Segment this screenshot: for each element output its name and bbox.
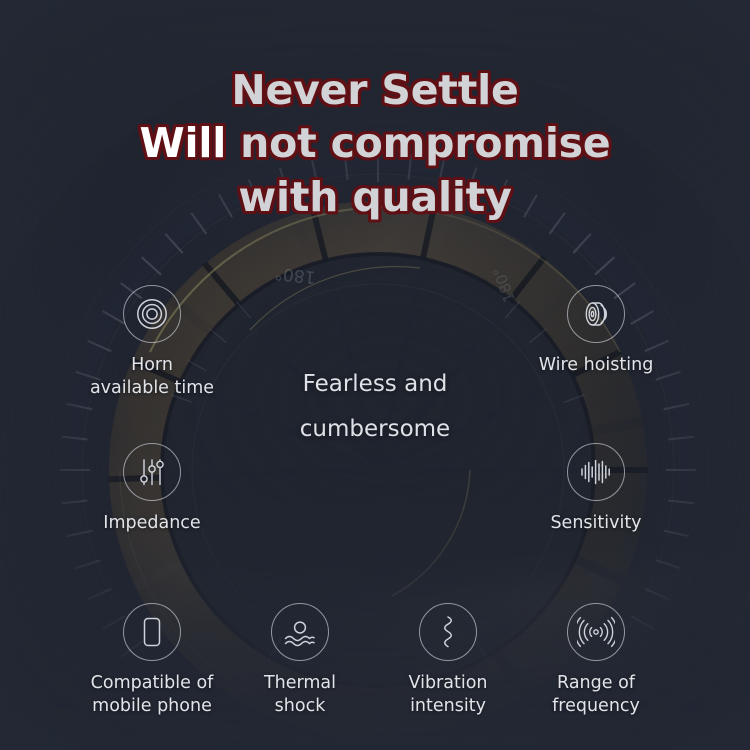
feature-label: Range of frequency [501,672,691,718]
feature-label: Horn available time [57,354,247,400]
headline-line-1: Never Settle [0,64,750,117]
headline-line-2-rest: not compromise [226,119,610,167]
concentric-circles-icon [123,285,181,343]
feature-horn-available-time[interactable]: Horn available time [57,285,247,400]
degree-label-top: 180° [274,263,317,287]
product-feature-poster: 180° 180° Never Settle Will not compromi… [0,0,750,750]
headline: Never Settle Will not compromise with qu… [0,64,750,224]
headline-line-2: Will not compromise [0,117,750,170]
feature-wire-hoisting[interactable]: Wire hoisting [501,285,691,377]
sun-over-waves-icon [271,603,329,661]
coil-spool-icon [567,285,625,343]
waveform-bars-icon [567,443,625,501]
feature-impedance[interactable]: Impedance [57,443,247,535]
headline-accent-word: Will [139,119,226,167]
feature-label: Sensitivity [501,512,691,535]
headline-line-3: with quality [0,171,750,224]
feature-label: Wire hoisting [501,354,691,377]
sliders-icon [123,443,181,501]
smartphone-icon [123,603,181,661]
feature-sensitivity[interactable]: Sensitivity [501,443,691,535]
zigzag-wave-icon [419,603,477,661]
feature-range-of-frequency[interactable]: Range of frequency [501,603,691,718]
feature-label: Impedance [57,512,247,535]
broadcast-waves-icon [567,603,625,661]
